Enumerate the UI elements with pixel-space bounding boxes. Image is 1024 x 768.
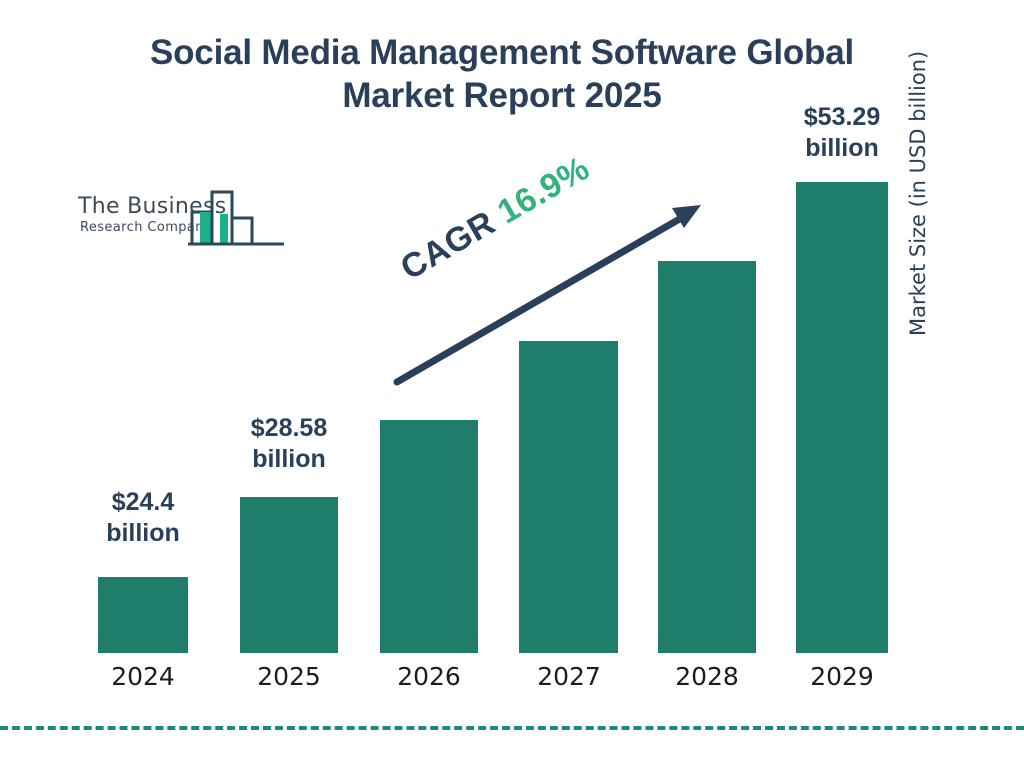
footer-divider bbox=[0, 726, 1024, 730]
market-report-chart: Social Media Management Software Global … bbox=[0, 0, 1024, 768]
cagr-growth-arrow-icon bbox=[0, 0, 1024, 768]
plot-area: $24.4 billion $28.58 billion $53.29 bill… bbox=[0, 0, 1024, 768]
y-axis-title: Market Size (in USD billion) bbox=[906, 6, 930, 336]
